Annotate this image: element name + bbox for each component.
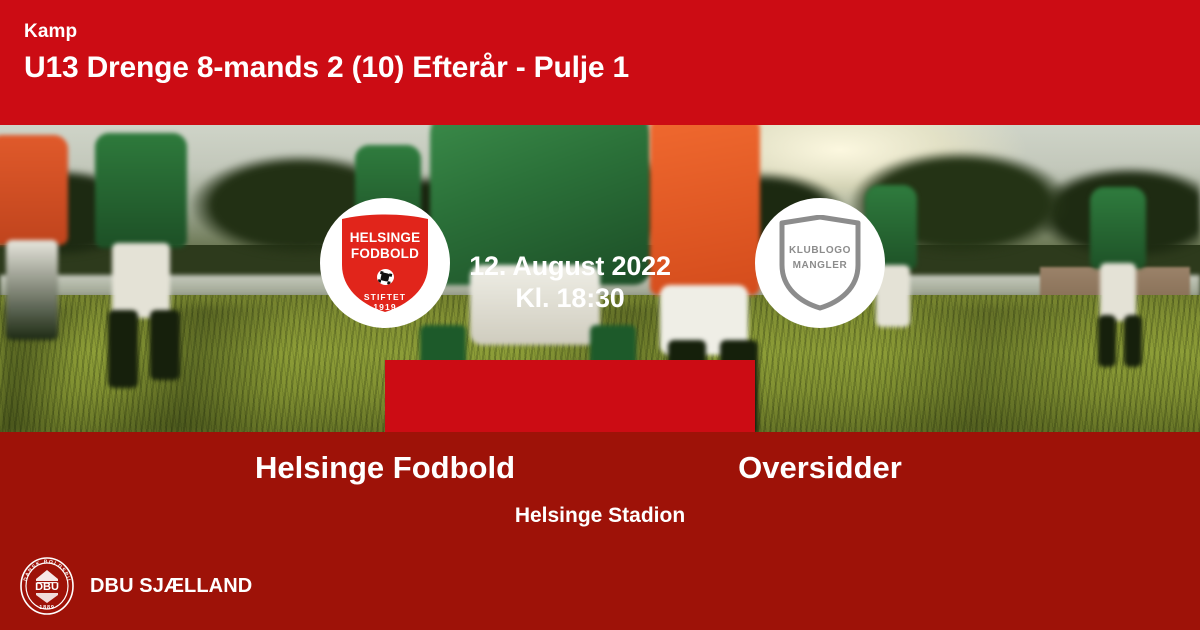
home-team-logo[interactable]: HELSINGE FODBOLD STIFTET 1919: [320, 198, 450, 328]
page-title: U13 Drenge 8-mands 2 (10) Efterår - Pulj…: [24, 48, 1200, 88]
team-names: Helsinge Fodbold Oversidder: [0, 446, 1200, 490]
helsinge-shield-icon: HELSINGE FODBOLD STIFTET 1919: [338, 213, 432, 313]
photo-player: [108, 310, 138, 388]
match-card: Kamp U13 Drenge 8-mands 2 (10) Efterår -…: [0, 0, 1200, 630]
dbu-emblem-icon: DBU 1889 DANSK BOLDSPIL UNION: [18, 557, 76, 615]
date-band: [385, 360, 755, 432]
away-team-logo[interactable]: KLUBLOGO MANGLER: [755, 198, 885, 328]
dbu-brand[interactable]: DBU 1889 DANSK BOLDSPIL UNION DBU SJÆLLA…: [18, 557, 252, 615]
photo-player: [6, 240, 58, 340]
photo-player: [1090, 187, 1146, 269]
home-team-name: Helsinge Fodbold: [185, 446, 585, 490]
photo-player: [1098, 315, 1116, 367]
card-header: Kamp U13 Drenge 8-mands 2 (10) Efterår -…: [0, 0, 1200, 125]
dbu-brand-name: DBU SJÆLLAND: [90, 574, 252, 598]
photo-player: [1124, 315, 1142, 367]
away-team-name: Oversidder: [620, 446, 1020, 490]
photo-player: [1100, 263, 1136, 321]
match-time: Kl. 18:30: [515, 282, 624, 314]
photo-player: [150, 310, 180, 380]
svg-text:1889: 1889: [39, 605, 54, 611]
photo-player: [0, 135, 68, 245]
photo-player: [95, 133, 187, 248]
card-footer: Helsinge Fodbold Oversidder Helsinge Sta…: [0, 432, 1200, 630]
photo-player: [112, 243, 170, 318]
away-logo-line1: KLUBLOGO: [789, 243, 851, 258]
venue-name: Helsinge Stadion: [0, 502, 1200, 530]
match-date: 12. August 2022: [469, 250, 671, 282]
kamp-label: Kamp: [24, 20, 1200, 44]
away-logo-line2: MANGLER: [793, 258, 848, 273]
shield-placeholder-icon: KLUBLOGO MANGLER: [776, 215, 864, 311]
svg-text:DBU: DBU: [35, 581, 59, 593]
